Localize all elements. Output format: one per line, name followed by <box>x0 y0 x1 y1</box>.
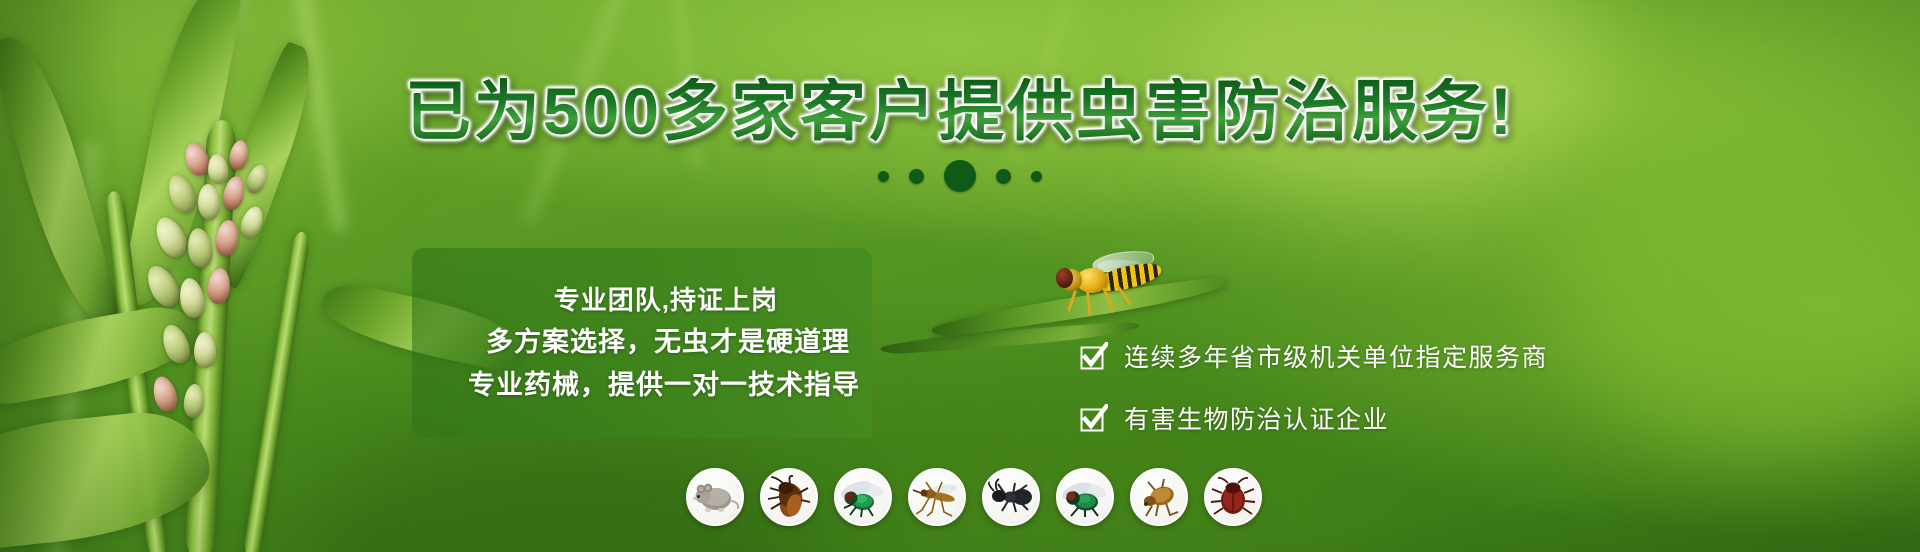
fly-icon[interactable] <box>1056 468 1114 526</box>
ant-icon[interactable] <box>982 468 1040 526</box>
checklist-item-label: 连续多年省市级机关单位指定服务商 <box>1124 338 1548 374</box>
slogan-line-1: 专业团队,持证上岗 <box>554 287 860 313</box>
slogan-line-2: 多方案选择，无虫才是硬道理 <box>486 329 860 356</box>
slogan-panel: 专业团队,持证上岗 多方案选择，无虫才是硬道理 专业药械，提供一对一技术指导 <box>412 248 872 438</box>
dot-small-icon <box>878 171 889 182</box>
pest-icon-row <box>686 468 1262 526</box>
checklist-item: 有害生物防治认证企业 <box>1080 400 1548 436</box>
dot-medium-icon <box>996 169 1011 184</box>
dot-large-icon <box>944 160 976 192</box>
bottle-fly-icon[interactable] <box>834 468 892 526</box>
mosquito-icon[interactable] <box>908 468 966 526</box>
bedbug-icon[interactable] <box>1204 468 1262 526</box>
cockroach-icon[interactable] <box>760 468 818 526</box>
checklist-item: 连续多年省市级机关单位指定服务商 <box>1080 338 1548 374</box>
banner-headline: 已为500多家客户提供虫害防治服务! <box>0 78 1920 144</box>
checklist-item-label: 有害生物防治认证企业 <box>1124 400 1389 436</box>
flea-icon[interactable] <box>1130 468 1188 526</box>
hoverfly-icon <box>1040 248 1170 318</box>
checkbox-checked-icon <box>1080 404 1108 432</box>
dot-medium-icon <box>909 169 924 184</box>
mouse-icon[interactable] <box>686 468 744 526</box>
checkbox-checked-icon <box>1080 342 1108 370</box>
promo-banner: 已为500多家客户提供虫害防治服务! 专业团队,持证上岗 多方案选择，无虫才是硬… <box>0 0 1920 552</box>
decorative-dots <box>0 160 1920 192</box>
credentials-checklist: 连续多年省市级机关单位指定服务商 有害生物防治认证企业 <box>1080 338 1548 436</box>
slogan-line-3: 专业药械，提供一对一技术指导 <box>468 372 860 399</box>
dot-small-icon <box>1031 171 1042 182</box>
